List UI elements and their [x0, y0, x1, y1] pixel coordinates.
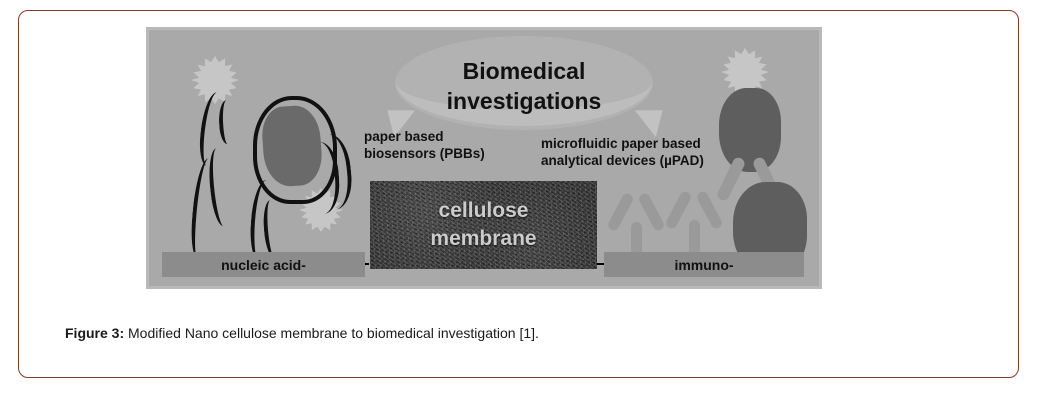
- figure-canvas: Biomedical investigations paper based bi…: [149, 30, 819, 286]
- branch-left-line1: paper based: [364, 128, 534, 145]
- cellulose-membrane-block: cellulose membrane: [370, 181, 597, 269]
- figure-caption-text: Modified Nano cellulose membrane to biom…: [124, 325, 539, 341]
- ellipse-title-line2: investigations: [447, 86, 602, 116]
- antigen-blob: [719, 88, 781, 172]
- bar-nucleic-acid: nucleic acid-: [162, 252, 365, 277]
- figure-caption-label: Figure 3:: [65, 325, 124, 341]
- branch-left-line2: biosensors (PBBs): [364, 145, 534, 162]
- nucleic-acid-strand: [189, 157, 218, 258]
- membrane-label-line1: cellulose: [439, 197, 529, 225]
- ellipse-title-line1: Biomedical: [463, 56, 586, 86]
- membrane-label-line2: membrane: [430, 225, 536, 253]
- figure-caption: Figure 3: Modified Nano cellulose membra…: [65, 323, 539, 343]
- ellipse-title: Biomedical investigations: [395, 42, 653, 130]
- figure-image: Biomedical investigations paper based bi…: [146, 27, 822, 289]
- branch-label-pbbs: paper based biosensors (PBBs): [364, 128, 534, 162]
- bar-immuno: immuno-: [604, 252, 804, 277]
- figure-card: Biomedical investigations paper based bi…: [18, 10, 1019, 378]
